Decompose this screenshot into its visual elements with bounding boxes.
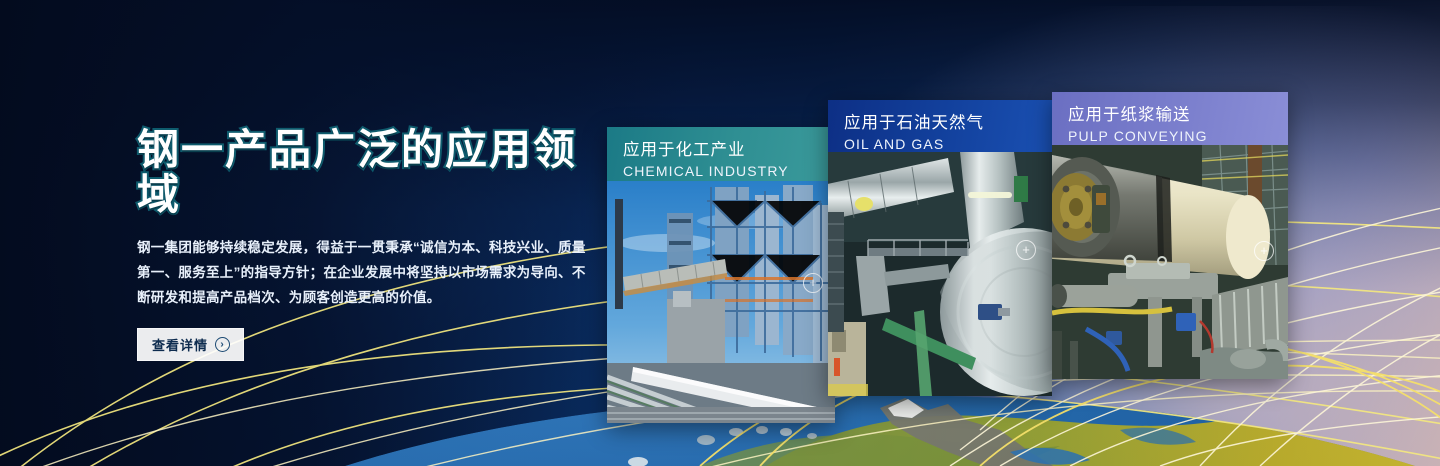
pulp-roller-illustration	[1052, 145, 1288, 379]
card-photo-chemical-plant: +	[607, 181, 835, 423]
page-title: 钢一产品广泛的应用领域	[137, 128, 607, 217]
hero-banner: 钢一产品广泛的应用领域 钢一集团能够持续稳定发展，得益于一贯秉承“诚信为本、科技…	[0, 0, 1440, 466]
view-details-label: 查看详情	[152, 335, 208, 354]
hero-description: 钢一集团能够持续稳定发展，得益于一贯秉承“诚信为本、科技兴业、质量第一、服务至上…	[137, 235, 587, 310]
card-title-zh: 应用于化工产业	[623, 139, 835, 161]
chemical-plant-illustration	[607, 181, 835, 423]
plus-circle-icon[interactable]: +	[1254, 241, 1274, 261]
card-photo-pulp-roller: +	[1052, 145, 1288, 379]
plus-circle-icon[interactable]: +	[803, 273, 823, 293]
view-details-button[interactable]: 查看详情 ›	[137, 328, 244, 361]
card-caption-pulp: 应用于纸浆输送 PULP CONVEYING	[1052, 92, 1288, 145]
card-title-zh: 应用于石油天然气	[844, 112, 1052, 134]
card-title-en: PULP CONVEYING	[1068, 127, 1288, 146]
card-caption-chemical: 应用于化工产业 CHEMICAL INDUSTRY	[607, 127, 835, 181]
plus-circle-icon[interactable]: +	[1016, 240, 1036, 260]
application-card-chemical-industry[interactable]: 应用于化工产业 CHEMICAL INDUSTRY	[607, 127, 835, 423]
application-card-pulp-conveying[interactable]: 应用于纸浆输送 PULP CONVEYING	[1052, 92, 1288, 379]
card-photo-oil-gas: +	[828, 152, 1052, 396]
card-title-zh: 应用于纸浆输送	[1068, 104, 1288, 126]
hero-copy-block: 钢一产品广泛的应用领域 钢一集团能够持续稳定发展，得益于一贯秉承“诚信为本、科技…	[137, 128, 607, 361]
card-caption-oil: 应用于石油天然气 OIL AND GAS	[828, 100, 1052, 152]
card-title-en: CHEMICAL INDUSTRY	[623, 162, 835, 181]
application-card-oil-and-gas[interactable]: 应用于石油天然气 OIL AND GAS	[828, 100, 1052, 396]
chevron-right-circle-icon: ›	[215, 337, 230, 352]
oil-gas-illustration	[828, 152, 1052, 396]
